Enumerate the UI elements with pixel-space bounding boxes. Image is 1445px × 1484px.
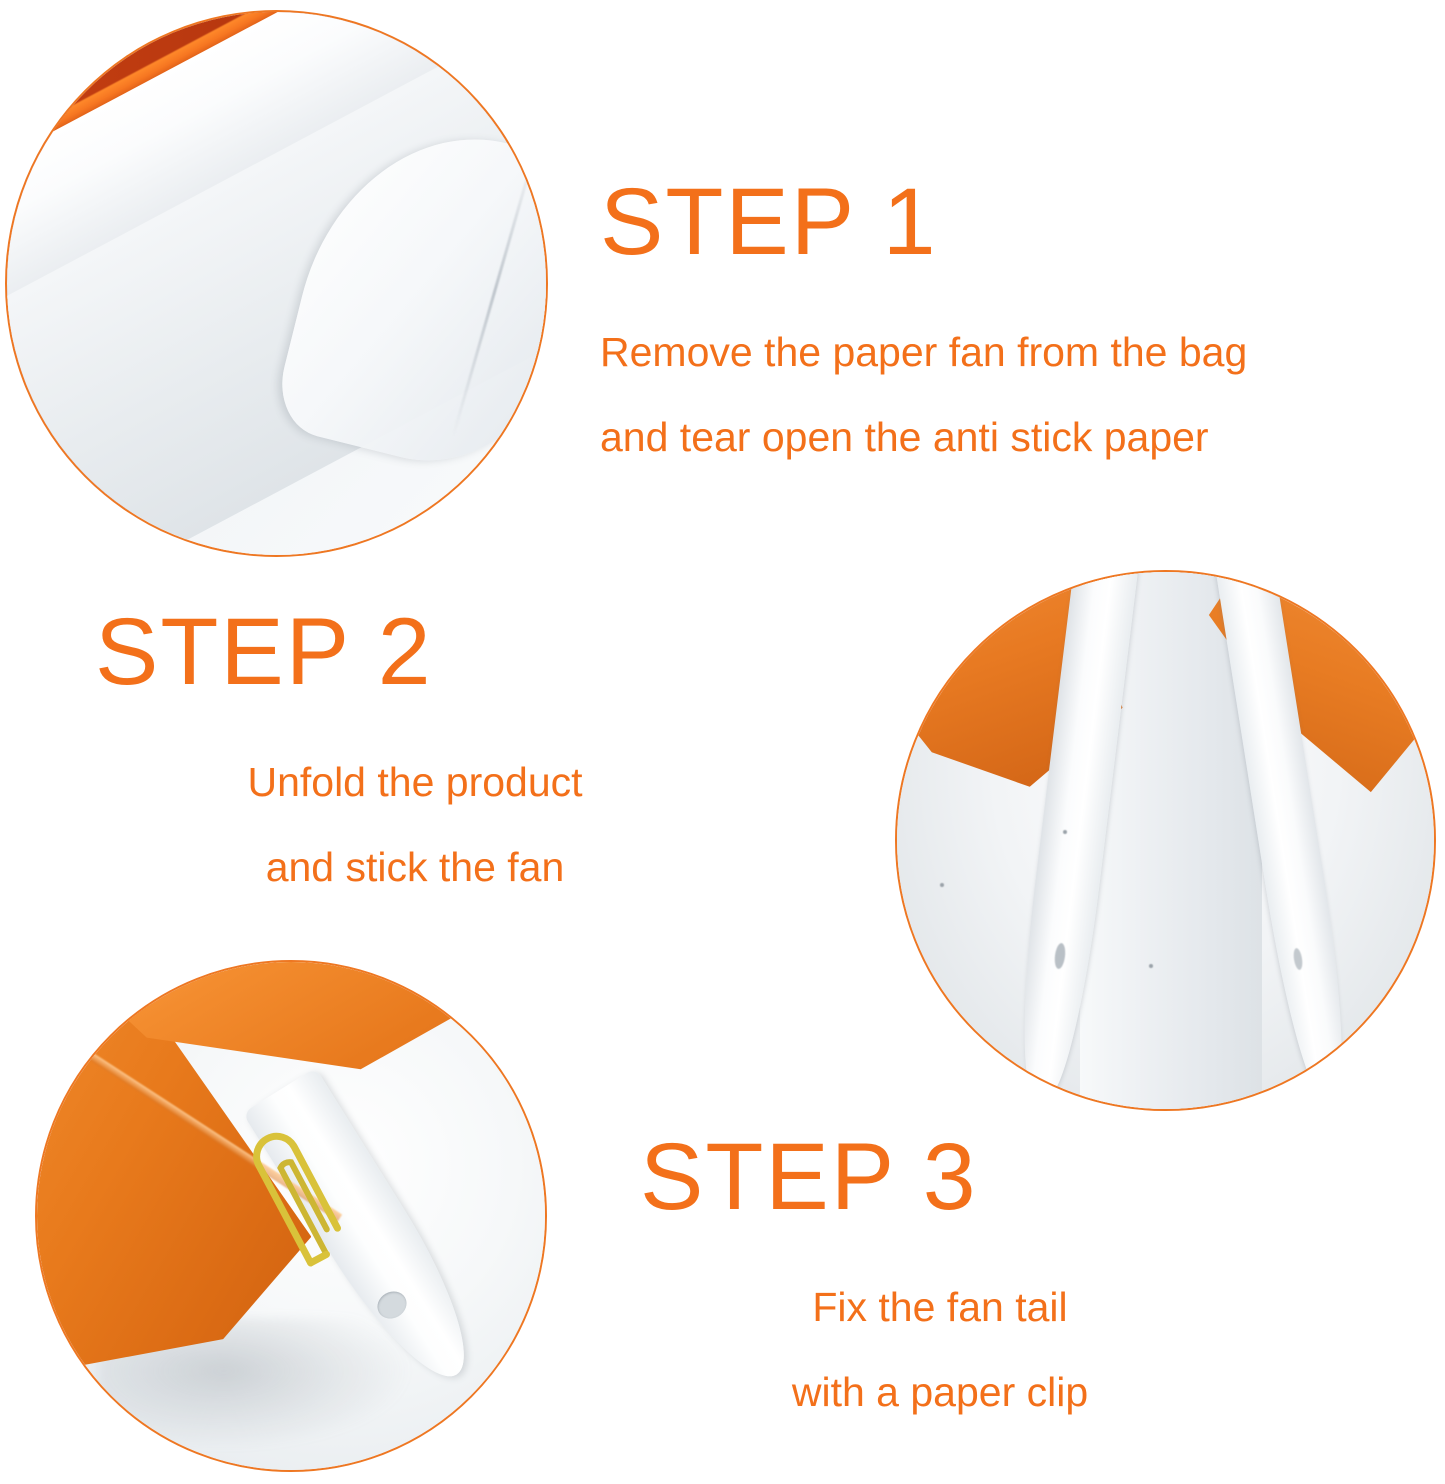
step-2-title: STEP 2 [95,605,735,700]
step-3-lines: Fix the fan tail with a paper clip [640,1287,1240,1413]
photo-content-step1 [7,12,546,555]
step-3-text-block: STEP 3 Fix the fan tail with a paper cli… [640,1130,1240,1457]
step-2-line-2: and stick the fan [95,847,735,888]
paper-fan-in-bag-photo [5,10,548,557]
step-1-line-2: and tear open the anti stick paper [600,417,1247,458]
step-2-lines: Unfold the product and stick the fan [95,762,735,888]
photo-content-step2 [897,572,1434,1109]
step-3-title: STEP 3 [640,1130,1240,1225]
step-2-text-block: STEP 2 Unfold the product and stick the … [95,605,735,932]
unfolded-fan-photo [895,570,1436,1111]
step-3-line-2: with a paper clip [640,1372,1240,1413]
step-2-line-1: Unfold the product [95,762,735,803]
fan-tail-paper-clip-photo [35,960,547,1472]
photo-content-step3 [37,962,545,1470]
step-1-title: STEP 1 [600,175,1247,270]
step-1-line-1: Remove the paper fan from the bag [600,332,1247,373]
step-1-text-block: STEP 1 Remove the paper fan from the bag… [600,175,1247,502]
instruction-infographic: STEP 1 Remove the paper fan from the bag… [0,0,1445,1484]
step-3-line-1: Fix the fan tail [640,1287,1240,1328]
